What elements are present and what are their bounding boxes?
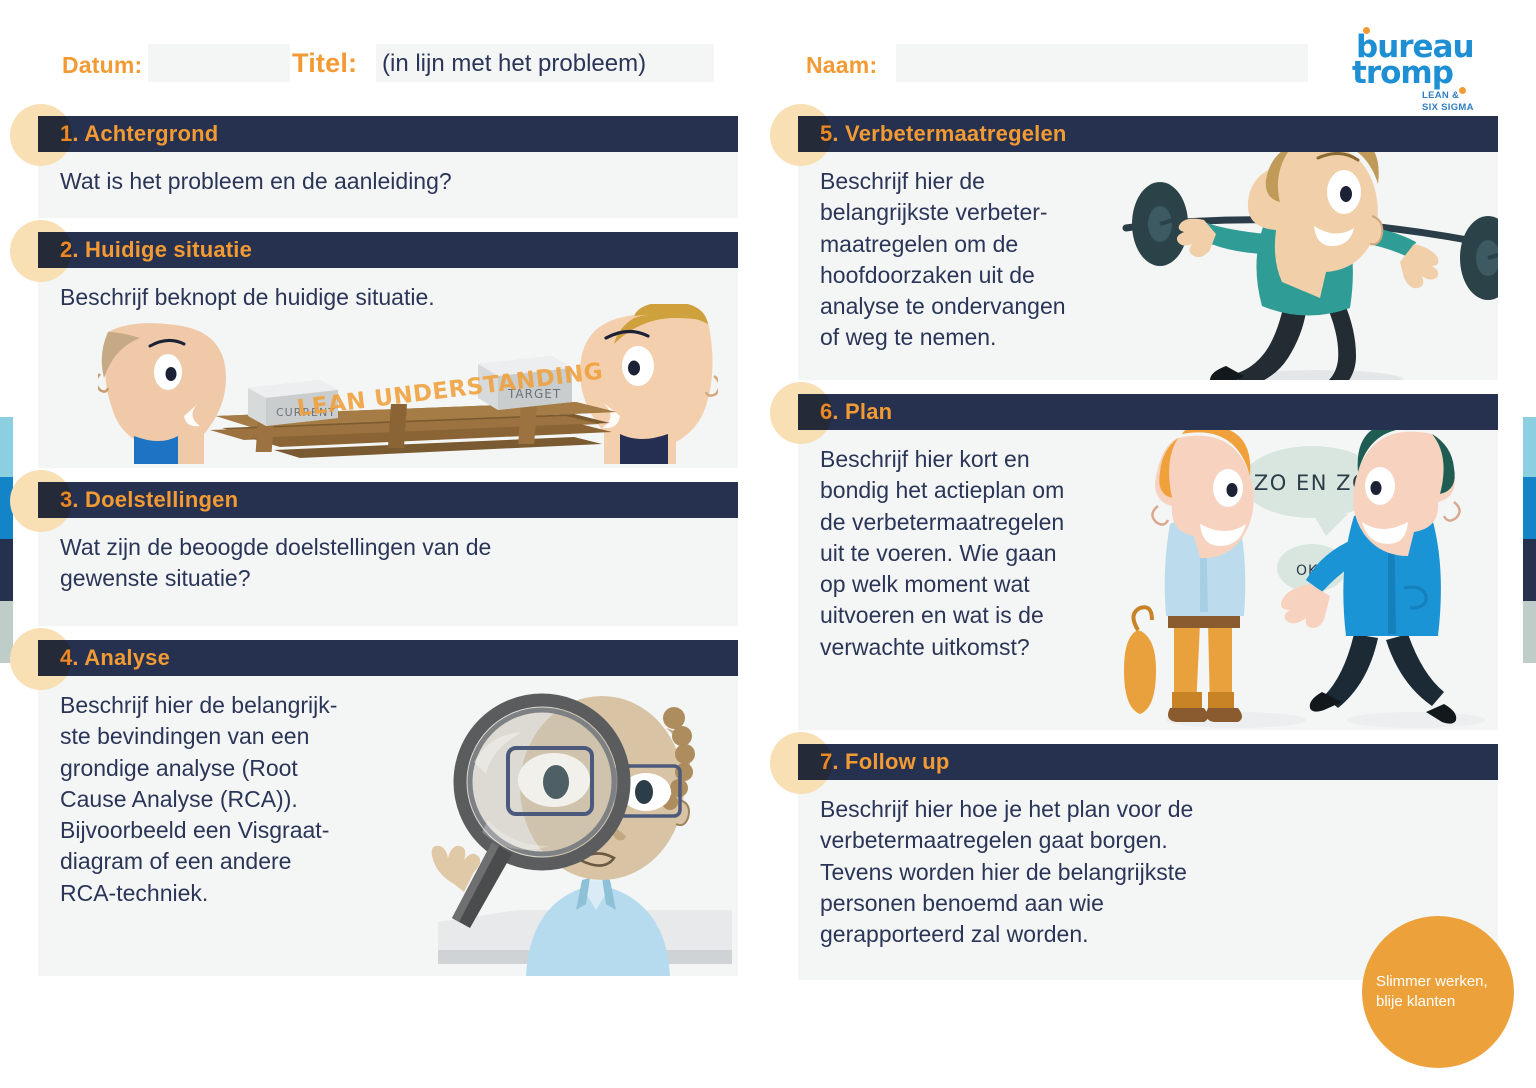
current-block: CURRENT (248, 380, 338, 426)
section-content[interactable]: Beschrijf hier de belangrijkste verbeter… (798, 152, 1498, 380)
section-body-text: Beschrijf hier kort en bondig het actiep… (820, 444, 1150, 663)
svg-text:CURRENT: CURRENT (276, 406, 336, 419)
two-men-talking-illustration: ZO EN ZO OKÉ (1116, 430, 1498, 728)
pallet-planks (210, 400, 616, 458)
section-verbetermaatregelen: 5. Verbetermaatregelen Beschrijf hier de… (798, 116, 1498, 380)
section-body-text: Beschrijf hier de belangrijkste verbeter… (820, 166, 1150, 354)
section-content[interactable]: Beschrijf beknopt de huidige situatie. (38, 268, 738, 468)
section-title: 7. Follow up (820, 749, 950, 775)
edge-color-strip-right (1523, 417, 1536, 663)
pallet-bridge-illustration: CURRENT TARGET LEAN UNDERSTANDING (98, 304, 718, 464)
tagline-badge-text: Slimmer werken, blije klanten (1362, 972, 1488, 1013)
section-header-bar: 1. Achtergrond (38, 116, 738, 152)
section-header-bar: 4. Analyse (38, 640, 738, 676)
section-plan: 6. Plan Beschrijf hier kort en bondig he… (798, 394, 1498, 730)
logo-word-tromp: tromp (1352, 58, 1453, 89)
datum-label: Datum: (62, 52, 142, 79)
speech-bubble-zo-en-zo: ZO EN ZO (1242, 446, 1382, 536)
section-title: 1. Achtergrond (60, 121, 218, 147)
barbell-lifter-illustration (1098, 152, 1498, 380)
section-content[interactable]: Beschrijf hier kort en bondig het actiep… (798, 430, 1498, 730)
edge-color-strip-left (0, 417, 13, 663)
section-achtergrond: 1. Achtergrond Wat is het probleem en de… (38, 116, 738, 218)
section-header-bar: 7. Follow up (798, 744, 1498, 780)
strip-segment-lightblue (1523, 417, 1536, 477)
speech-bubble-oke: OKÉ (1277, 544, 1347, 606)
section-header-bar: 6. Plan (798, 394, 1498, 430)
datum-input[interactable] (148, 44, 290, 82)
tagline-badge: Slimmer werken, blije klanten (1362, 916, 1514, 1068)
section-content[interactable]: Wat is het probleem en de aanleiding? (38, 152, 738, 218)
section-body-text: Beschrijf beknopt de huidige situatie. (60, 282, 718, 313)
section-huidige-situatie: 2. Huidige situatie Beschrijf beknopt de… (38, 232, 738, 468)
svg-text:OKÉ: OKÉ (1296, 562, 1328, 579)
titel-placeholder-text: (in lijn met het probleem) (382, 50, 646, 78)
section-title: 6. Plan (820, 399, 892, 425)
section-header-bar: 5. Verbetermaatregelen (798, 116, 1498, 152)
left-face (98, 323, 226, 464)
section-header-bar: 2. Huidige situatie (38, 232, 738, 268)
strip-segment-blue (1523, 477, 1536, 539)
section-doelstellingen: 3. Doelstellingen Wat zijn de beoogde do… (38, 482, 738, 626)
strip-segment-graygreen (1523, 601, 1536, 663)
section-title: 2. Huidige situatie (60, 237, 252, 263)
man-right (1281, 430, 1460, 724)
titel-label: Titel: (292, 48, 357, 79)
svg-text:TARGET: TARGET (507, 387, 561, 401)
strip-segment-lightblue (0, 417, 13, 477)
naam-input[interactable] (896, 44, 1308, 82)
strip-segment-navy (1523, 539, 1536, 601)
strip-segment-navy (0, 539, 13, 601)
section-analyse: 4. Analyse Beschrijf hier de belangrijk-… (38, 640, 738, 976)
left-column: 1. Achtergrond Wat is het probleem en de… (38, 116, 738, 990)
section-body-text: Beschrijf hier hoe je het plan voor de v… (820, 794, 1478, 950)
target-block: TARGET (478, 356, 572, 410)
section-content[interactable]: Wat zijn de beoogde doelstellingen van d… (38, 518, 738, 626)
section-body-text: Beschrijf hier de belangrijk- ste bevind… (60, 690, 718, 909)
right-face (580, 304, 718, 464)
section-body-text: Wat is het probleem en de aanleiding? (60, 166, 718, 197)
section-title: 3. Doelstellingen (60, 487, 238, 513)
logo-tagline: LEAN & SIX SIGMA (1422, 90, 1474, 114)
lean-understanding-label: LEAN UNDERSTANDING (296, 359, 605, 422)
page-header: Datum: Titel: (in lijn met het probleem)… (0, 0, 1536, 112)
section-header-bar: 3. Doelstellingen (38, 482, 738, 518)
svg-text:ZO EN ZO: ZO EN ZO (1254, 471, 1370, 495)
section-body-text: Wat zijn de beoogde doelstellingen van d… (60, 532, 718, 595)
bureau-tromp-logo: bureau tromp LEAN & SIX SIGMA (1352, 26, 1484, 108)
section-title: 4. Analyse (60, 645, 170, 671)
right-column: 5. Verbetermaatregelen Beschrijf hier de… (798, 116, 1498, 994)
naam-label: Naam: (806, 52, 877, 79)
section-content[interactable]: Beschrijf hier de belangrijk- ste bevind… (38, 676, 738, 976)
section-title: 5. Verbetermaatregelen (820, 121, 1067, 147)
